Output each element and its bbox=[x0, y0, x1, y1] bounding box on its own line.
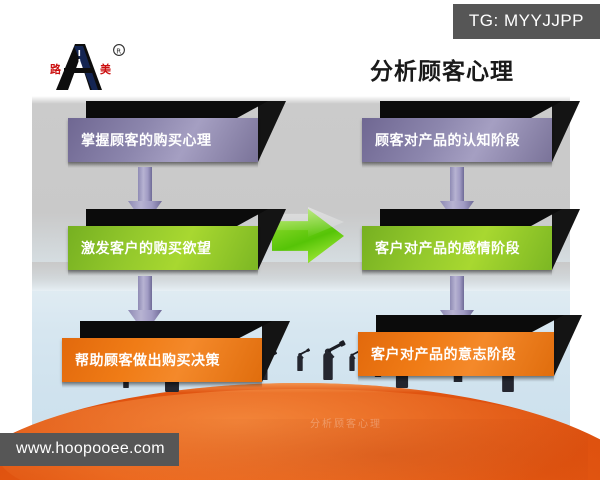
flow-box-right-2[interactable]: 客户对产品的感情阶段 bbox=[362, 226, 552, 270]
website-chip: www.hoopooee.com bbox=[0, 433, 179, 466]
box-shadow bbox=[62, 382, 262, 388]
flow-box-label: 掌握顾客的购买心理 bbox=[68, 118, 258, 162]
flow-box-label: 激发客户的购买欲望 bbox=[68, 226, 258, 270]
flow-box-right-3[interactable]: 客户对产品的意志阶段 bbox=[358, 332, 554, 376]
flow-box-left-3[interactable]: 帮助顾客做出购买决策 bbox=[62, 338, 262, 382]
flow-box-left-1[interactable]: 掌握顾客的购买心理 bbox=[68, 118, 258, 162]
arrow-shaft bbox=[138, 276, 152, 314]
faint-watermark: 分析顾客心理 bbox=[310, 415, 382, 430]
arrow-shaft bbox=[450, 276, 464, 314]
flow-box-label: 客户对产品的意志阶段 bbox=[358, 332, 554, 376]
flow-box-label: 帮助顾客做出购买决策 bbox=[62, 338, 262, 382]
arrow-shaft bbox=[138, 167, 152, 205]
company-logo: 路 美 R bbox=[38, 40, 138, 96]
box-shadow bbox=[68, 270, 258, 276]
flow-box-label: 顾客对产品的认知阶段 bbox=[362, 118, 552, 162]
flow-box-left-2[interactable]: 激发客户的购买欲望 bbox=[68, 226, 258, 270]
road-a-logo-icon: 路 美 R bbox=[38, 40, 138, 96]
page-title: 分析顾客心理 bbox=[370, 52, 514, 86]
box-shadow bbox=[68, 162, 258, 168]
box-shadow bbox=[358, 376, 554, 382]
svg-text:美: 美 bbox=[100, 62, 112, 76]
arrow-shaft bbox=[450, 167, 464, 205]
tag-chip: TG: MYYJJPP bbox=[453, 4, 600, 39]
svg-text:R: R bbox=[116, 47, 121, 55]
flow-box-right-1[interactable]: 顾客对产品的认知阶段 bbox=[362, 118, 552, 162]
svg-text:路: 路 bbox=[50, 62, 62, 76]
flow-box-label: 客户对产品的感情阶段 bbox=[362, 226, 552, 270]
slide-canvas: 分析顾客心理 路 美 R 分析顾客心理 掌握顾客的购买心理 bbox=[0, 0, 600, 480]
